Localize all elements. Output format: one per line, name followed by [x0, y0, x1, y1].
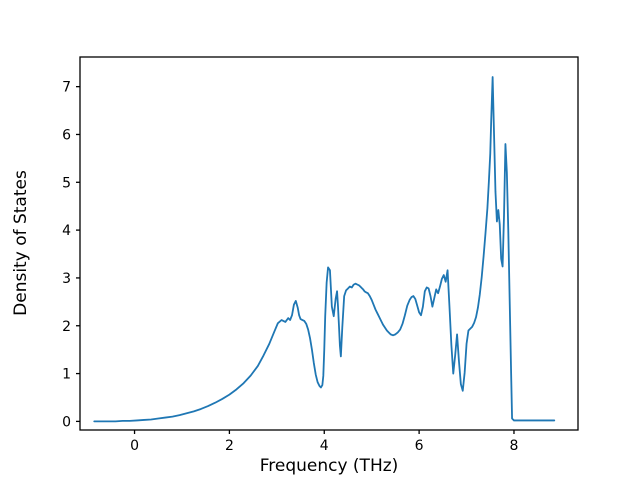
y-tick-label: 5	[62, 175, 71, 191]
x-tick-label: 4	[320, 438, 329, 454]
y-tick-label: 1	[62, 367, 71, 383]
x-tick-label: 2	[225, 438, 234, 454]
y-tick-label: 0	[62, 414, 71, 430]
y-tick-label: 4	[62, 223, 71, 239]
y-axis-label: Density of States	[11, 170, 31, 316]
y-tick-label: 2	[62, 319, 71, 335]
x-tick-label: 6	[415, 438, 424, 454]
y-tick-label: 7	[62, 80, 71, 96]
figure-canvas: 02468 01234567 Frequency (THz) Density o…	[0, 0, 640, 480]
x-tick-label: 8	[510, 438, 519, 454]
y-tick-label: 6	[62, 127, 71, 143]
x-axis-label: Frequency (THz)	[260, 456, 399, 476]
x-tick-label: 0	[130, 438, 139, 454]
plot-area: 02468 01234567 Frequency (THz) Density o…	[0, 0, 640, 480]
y-tick-label: 3	[62, 271, 71, 287]
